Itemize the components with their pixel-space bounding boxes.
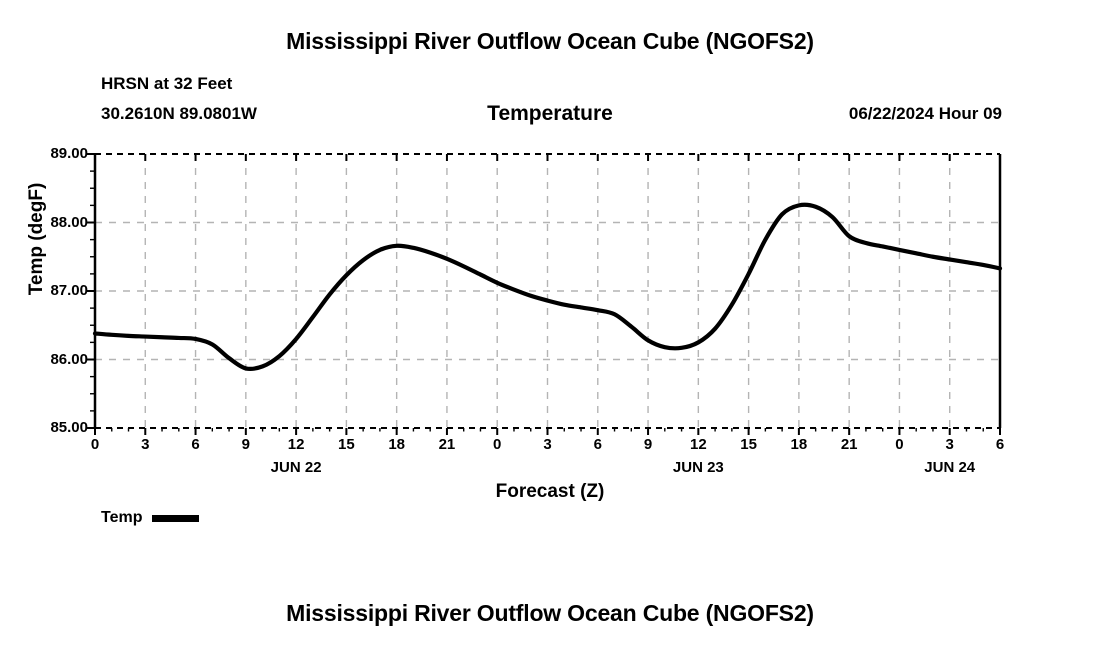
temperature-plot bbox=[0, 0, 1100, 650]
legend-line-swatch bbox=[152, 515, 199, 522]
x-tick-label: 9 bbox=[226, 436, 266, 453]
footer-title: Mississippi River Outflow Ocean Cube (NG… bbox=[0, 600, 1100, 627]
x-tick-label: 12 bbox=[678, 436, 718, 453]
y-tick-label: 87.00 bbox=[28, 282, 88, 299]
x-tick-label: 18 bbox=[377, 436, 417, 453]
y-tick-label: 88.00 bbox=[28, 214, 88, 231]
x-tick-label: 0 bbox=[477, 436, 517, 453]
x-tick-label: 3 bbox=[528, 436, 568, 453]
y-tick-label: 89.00 bbox=[28, 145, 88, 162]
day-label: JUN 23 bbox=[648, 459, 748, 476]
x-tick-label: 21 bbox=[427, 436, 467, 453]
x-tick-label: 18 bbox=[779, 436, 819, 453]
x-tick-label: 0 bbox=[75, 436, 115, 453]
x-tick-label: 6 bbox=[980, 436, 1020, 453]
y-tick-label: 86.00 bbox=[28, 351, 88, 368]
chart-page: Mississippi River Outflow Ocean Cube (NG… bbox=[0, 0, 1100, 650]
x-tick-label: 12 bbox=[276, 436, 316, 453]
legend: Temp bbox=[101, 509, 199, 527]
legend-label: Temp bbox=[101, 509, 142, 527]
day-label: JUN 22 bbox=[246, 459, 346, 476]
day-label: JUN 24 bbox=[900, 459, 1000, 476]
x-tick-label: 9 bbox=[628, 436, 668, 453]
x-tick-label: 0 bbox=[879, 436, 919, 453]
x-tick-label: 15 bbox=[729, 436, 769, 453]
x-tick-label: 3 bbox=[930, 436, 970, 453]
x-tick-label: 6 bbox=[176, 436, 216, 453]
x-tick-label: 21 bbox=[829, 436, 869, 453]
x-tick-label: 15 bbox=[326, 436, 366, 453]
y-tick-label: 85.00 bbox=[28, 419, 88, 436]
x-tick-label: 3 bbox=[125, 436, 165, 453]
x-tick-label: 6 bbox=[578, 436, 618, 453]
